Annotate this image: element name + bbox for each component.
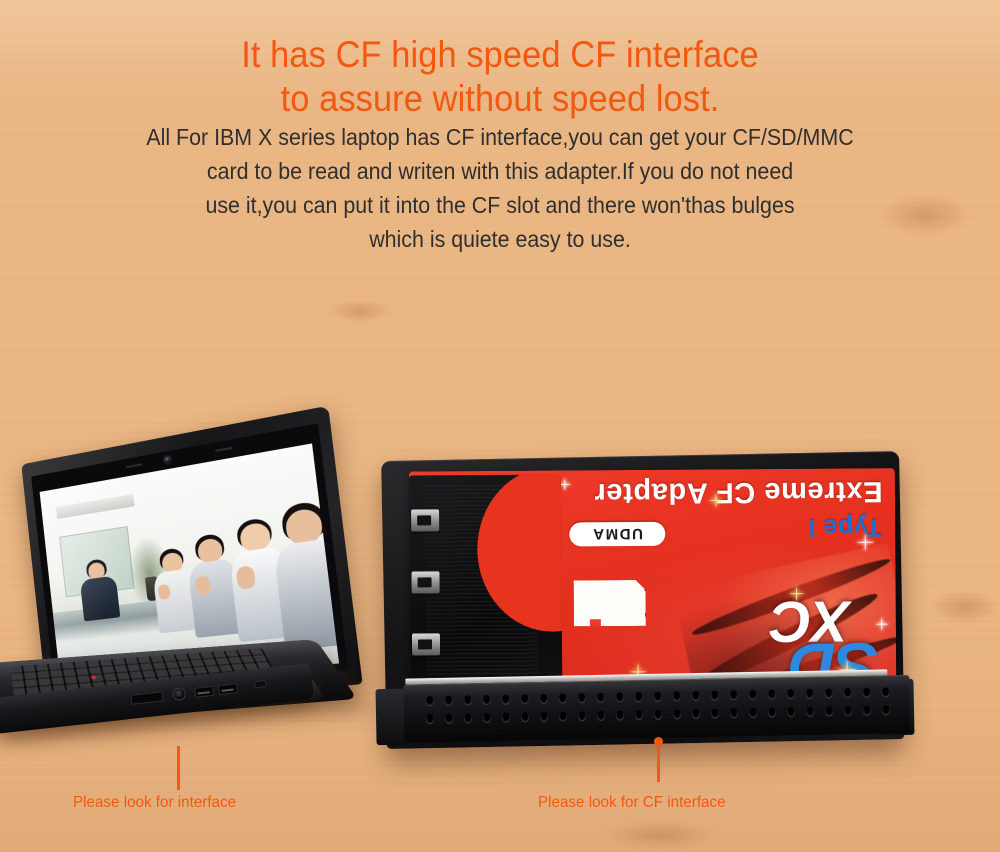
label-type-text: Type I: [808, 512, 882, 542]
sd-card-graphic-text: Card: [642, 588, 658, 620]
cf-pin-hole: [863, 706, 871, 716]
cf-pin-hole: [730, 708, 738, 718]
cf-pin-hole: [426, 696, 434, 706]
cf-pin-hole: [464, 695, 472, 705]
cf-pin-hole: [502, 713, 510, 723]
cf-pin-hole: [654, 692, 662, 702]
card-slot-port: [131, 691, 164, 704]
cf-pin-hole: [616, 710, 624, 720]
cf-pin-hole: [711, 709, 719, 719]
sd-card-graphic: Card: [574, 580, 646, 627]
cf-pin-hole: [844, 688, 852, 698]
slot-contact-clip: [411, 571, 439, 593]
cf-pin-hole: [426, 714, 434, 724]
promo-banner: It has CF high speed CF interface to ass…: [0, 0, 1000, 852]
usb-port: [194, 686, 214, 698]
cf-pin-hole: [768, 708, 776, 718]
cf-pin-hole: [749, 708, 757, 718]
lock-slot: [254, 680, 267, 688]
cf-pin-hole: [559, 712, 567, 722]
cf-pin-hole: [635, 710, 643, 720]
sd-card-notch: [590, 619, 601, 626]
cf-pin-hole: [445, 714, 453, 724]
slot-contact-clip: [411, 509, 439, 531]
body-copy: All For IBM X series laptop has CF inter…: [35, 120, 965, 256]
cf-adapter-illustration: Extreme CF Adapter Type I UDMA Card XC S…: [369, 443, 920, 773]
usb-port: [218, 683, 238, 695]
cf-pin-row-bottom: [426, 705, 892, 726]
cf-pin-hole: [787, 707, 795, 717]
cf-pin-hole: [806, 689, 814, 699]
cf-pin-hole: [825, 688, 833, 698]
caption-cf-interface: Please look for CF interface: [538, 794, 726, 812]
cf-pin-hole: [597, 711, 605, 721]
cf-pin-hole: [844, 706, 852, 716]
cf-pin-hole: [673, 691, 681, 701]
slot-contact-clip: [412, 633, 440, 655]
pointer-line-laptop: [177, 746, 180, 790]
cf-pin-hole: [616, 692, 624, 702]
laptop-illustration: ·············: [0, 455, 360, 785]
cf-pin-hole: [540, 694, 548, 704]
cf-connector-pins: [403, 675, 910, 743]
cf-pin-hole: [882, 705, 890, 715]
cf-pin-hole: [806, 707, 814, 717]
cf-pin-row-top: [426, 687, 892, 708]
cf-pin-hole: [692, 691, 700, 701]
cf-pin-hole: [673, 709, 681, 719]
microphone-hole: [215, 447, 233, 452]
cf-pin-hole: [559, 694, 567, 704]
cf-pin-hole: [749, 690, 757, 700]
cf-pin-hole: [787, 689, 795, 699]
cf-pin-hole: [540, 712, 548, 722]
cf-pin-hole: [464, 713, 472, 723]
audio-jack-port: [172, 687, 186, 701]
cf-pin-hole: [578, 693, 586, 703]
headline: It has CF high speed CF interface to ass…: [35, 33, 965, 121]
cf-adapter-shell: Extreme CF Adapter Type I UDMA Card XC S…: [381, 451, 904, 749]
cf-pin-hole: [445, 696, 453, 706]
cf-pin-hole: [597, 693, 605, 703]
cf-pin-hole: [711, 691, 719, 701]
cf-pin-hole: [730, 690, 738, 700]
cf-pin-hole: [635, 692, 643, 702]
cf-pin-hole: [654, 710, 662, 720]
label-udma-text: UDMA: [592, 525, 644, 542]
sd-card-slot: [409, 475, 563, 706]
cf-pin-hole: [483, 713, 491, 723]
microphone-hole: [126, 463, 143, 468]
caption-laptop-interface: Please look for interface: [73, 794, 236, 812]
webcam-icon: [164, 456, 171, 463]
cf-pin-hole: [768, 690, 776, 700]
cf-pin-hole: [692, 709, 700, 719]
cf-pin-hole: [502, 695, 510, 705]
cf-pin-hole: [521, 712, 529, 722]
label-brand-text: Extreme CF Adapter: [594, 474, 883, 509]
cf-pin-hole: [483, 695, 491, 705]
pointer-line-cf: [657, 742, 660, 782]
cf-pin-hole: [825, 706, 833, 716]
cf-pin-hole: [578, 711, 586, 721]
cf-pin-hole: [882, 687, 890, 697]
label-udma-badge: UDMA: [569, 522, 665, 547]
cf-pin-hole: [863, 688, 871, 698]
cf-pin-hole: [521, 694, 529, 704]
